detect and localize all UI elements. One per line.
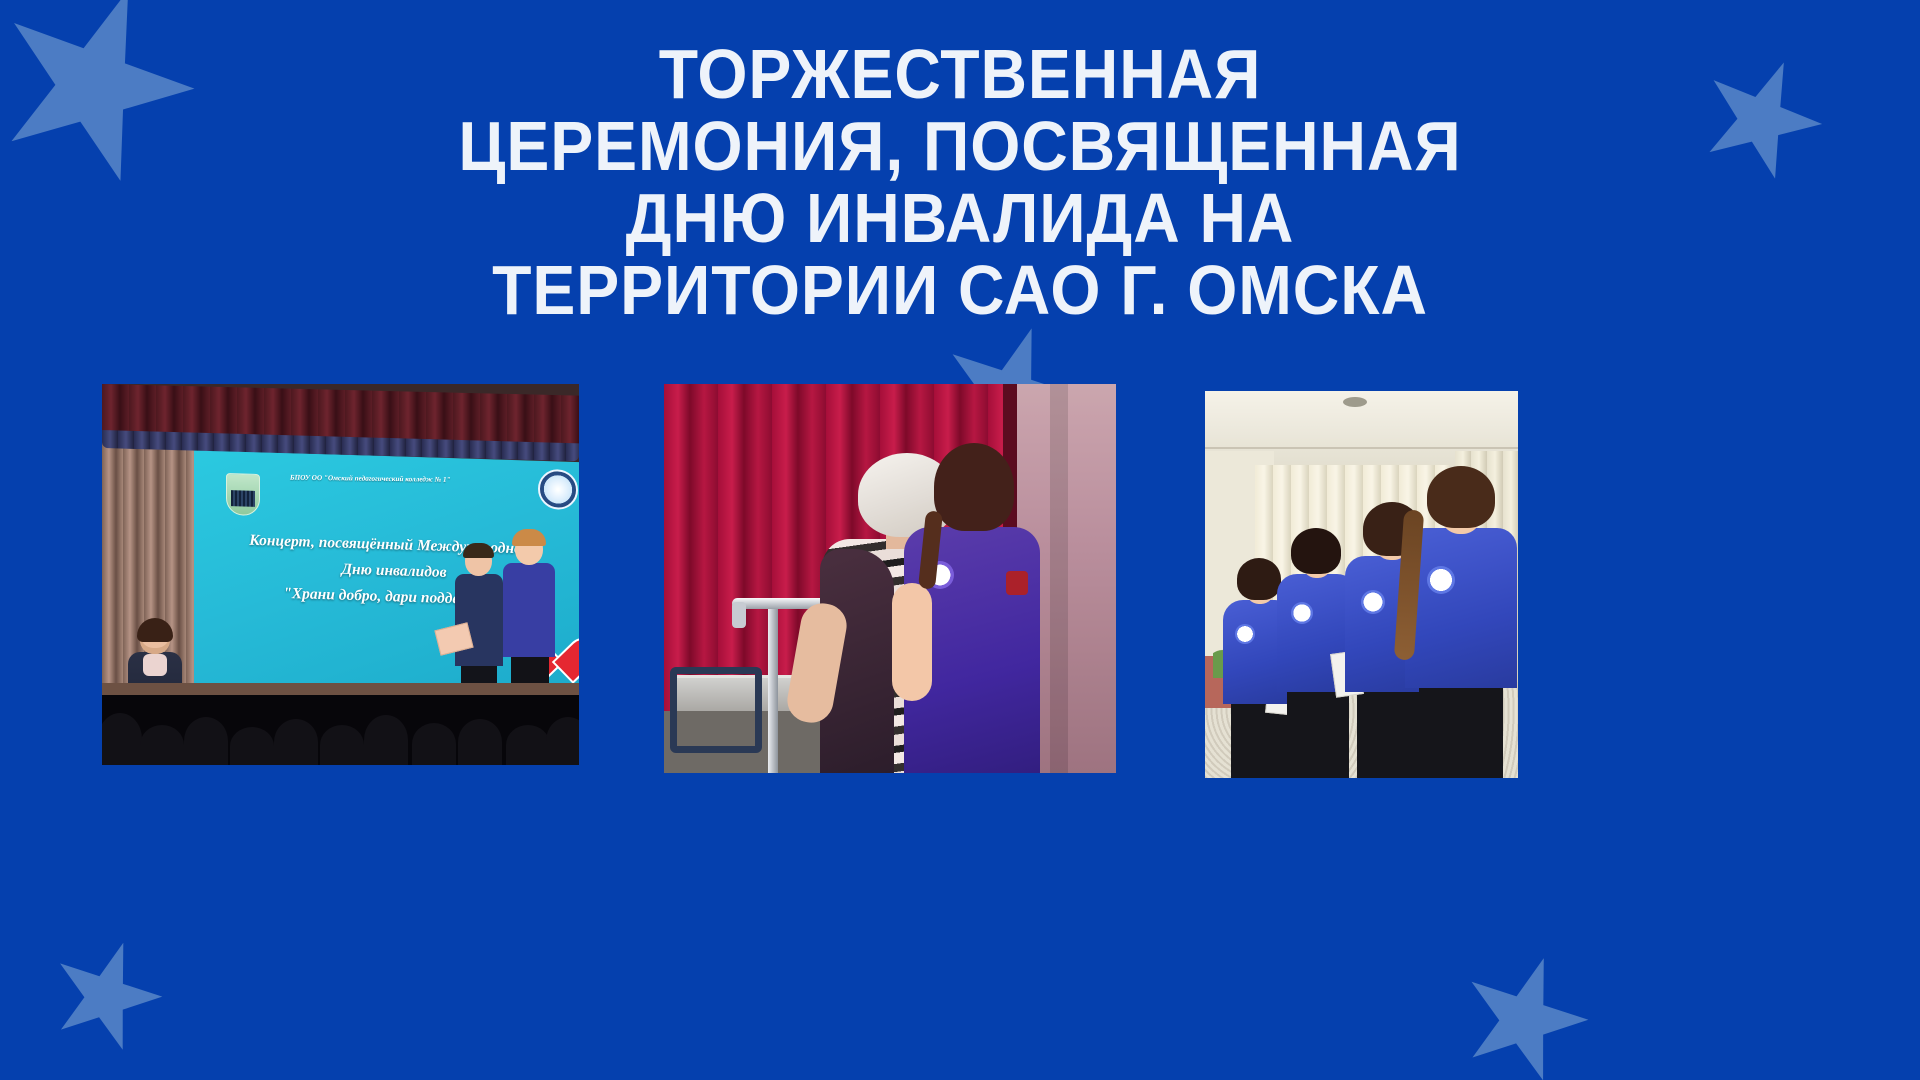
stage-scene: БПОУ ОО "Омский педагогический колледж №… bbox=[102, 384, 579, 765]
title-line-3: ДНЮ ИНВАЛИДА НА bbox=[178, 182, 1742, 254]
photo-volunteers-hallway bbox=[1205, 391, 1518, 778]
photo-red-curtain-handrail bbox=[664, 384, 1116, 773]
volunteer-logo-icon bbox=[1291, 602, 1313, 624]
title-line-2: ЦЕРЕМОНИЯ, ПОСВЯЩЕННАЯ bbox=[178, 110, 1742, 182]
title-line-4: ТЕРРИТОРИИ САО Г. ОМСКА bbox=[178, 254, 1742, 326]
poster-root: ТОРЖЕСТВЕННАЯ ЦЕРЕМОНИЯ, ПОСВЯЩЕННАЯ ДНЮ… bbox=[0, 0, 1920, 1080]
screen-institution-text: БПОУ ОО "Омский педагогический колледж №… bbox=[290, 474, 579, 486]
title-line-1: ТОРЖЕСТВЕННАЯ bbox=[178, 38, 1742, 110]
volunteer-in-blue-shirt bbox=[904, 443, 1040, 773]
audience-silhouettes bbox=[102, 695, 579, 765]
volunteer-logo-icon bbox=[1235, 624, 1255, 644]
volunteer-logo-icon bbox=[1361, 590, 1385, 614]
college-emblem-icon bbox=[538, 469, 578, 510]
photo-concert-stage: БПОУ ОО "Омский педагогический колледж №… bbox=[102, 384, 579, 765]
hallway-scene bbox=[1205, 391, 1518, 778]
backstage-scene bbox=[664, 384, 1116, 773]
volunteer-4 bbox=[1405, 466, 1517, 778]
poster-title: ТОРЖЕСТВЕННАЯ ЦЕРЕМОНИЯ, ПОСВЯЩЕННАЯ ДНЮ… bbox=[77, 38, 1843, 326]
volunteer-logo-icon bbox=[1427, 566, 1455, 594]
sleeve-patch-icon bbox=[1006, 571, 1028, 595]
omsk-coat-of-arms-icon bbox=[226, 473, 260, 516]
